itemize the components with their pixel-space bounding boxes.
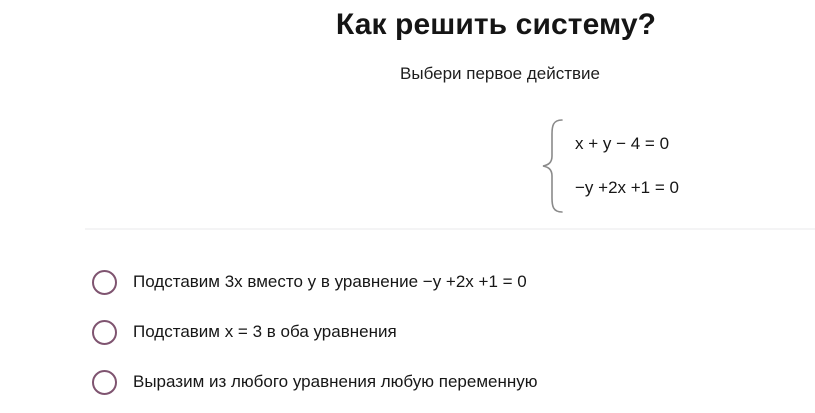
radio-button-3[interactable]	[92, 370, 117, 395]
answer-option-2-label: Подставим х = 3 в оба уравнения	[133, 322, 397, 342]
answer-option-3[interactable]: Выразим из любого уравнения любую переме…	[92, 357, 772, 407]
radio-button-2[interactable]	[92, 320, 117, 345]
answer-options-list: Подставим 3х вместо у в уравнение −y +2х…	[92, 257, 772, 407]
answer-option-1-label: Подставим 3х вместо у в уравнение −y +2х…	[133, 272, 527, 292]
page-subtitle: Выбери первое действие	[0, 64, 815, 84]
left-curly-brace-icon	[540, 118, 566, 214]
equation-system: x + y − 4 = 0 −y +2x +1 = 0	[540, 118, 679, 214]
quiz-screen: Как решить систему? Выбери первое действ…	[0, 0, 815, 413]
radio-button-1[interactable]	[92, 270, 117, 295]
equation-second: −y +2x +1 = 0	[575, 166, 679, 210]
page-title: Как решить систему?	[0, 8, 815, 42]
answer-option-1[interactable]: Подставим 3х вместо у в уравнение −y +2х…	[92, 257, 772, 307]
answer-option-2[interactable]: Подставим х = 3 в оба уравнения	[92, 307, 772, 357]
equation-first: x + y − 4 = 0	[575, 122, 679, 166]
section-divider	[85, 228, 815, 230]
equation-list: x + y − 4 = 0 −y +2x +1 = 0	[566, 118, 679, 214]
answer-option-3-label: Выразим из любого уравнения любую переме…	[133, 372, 538, 392]
